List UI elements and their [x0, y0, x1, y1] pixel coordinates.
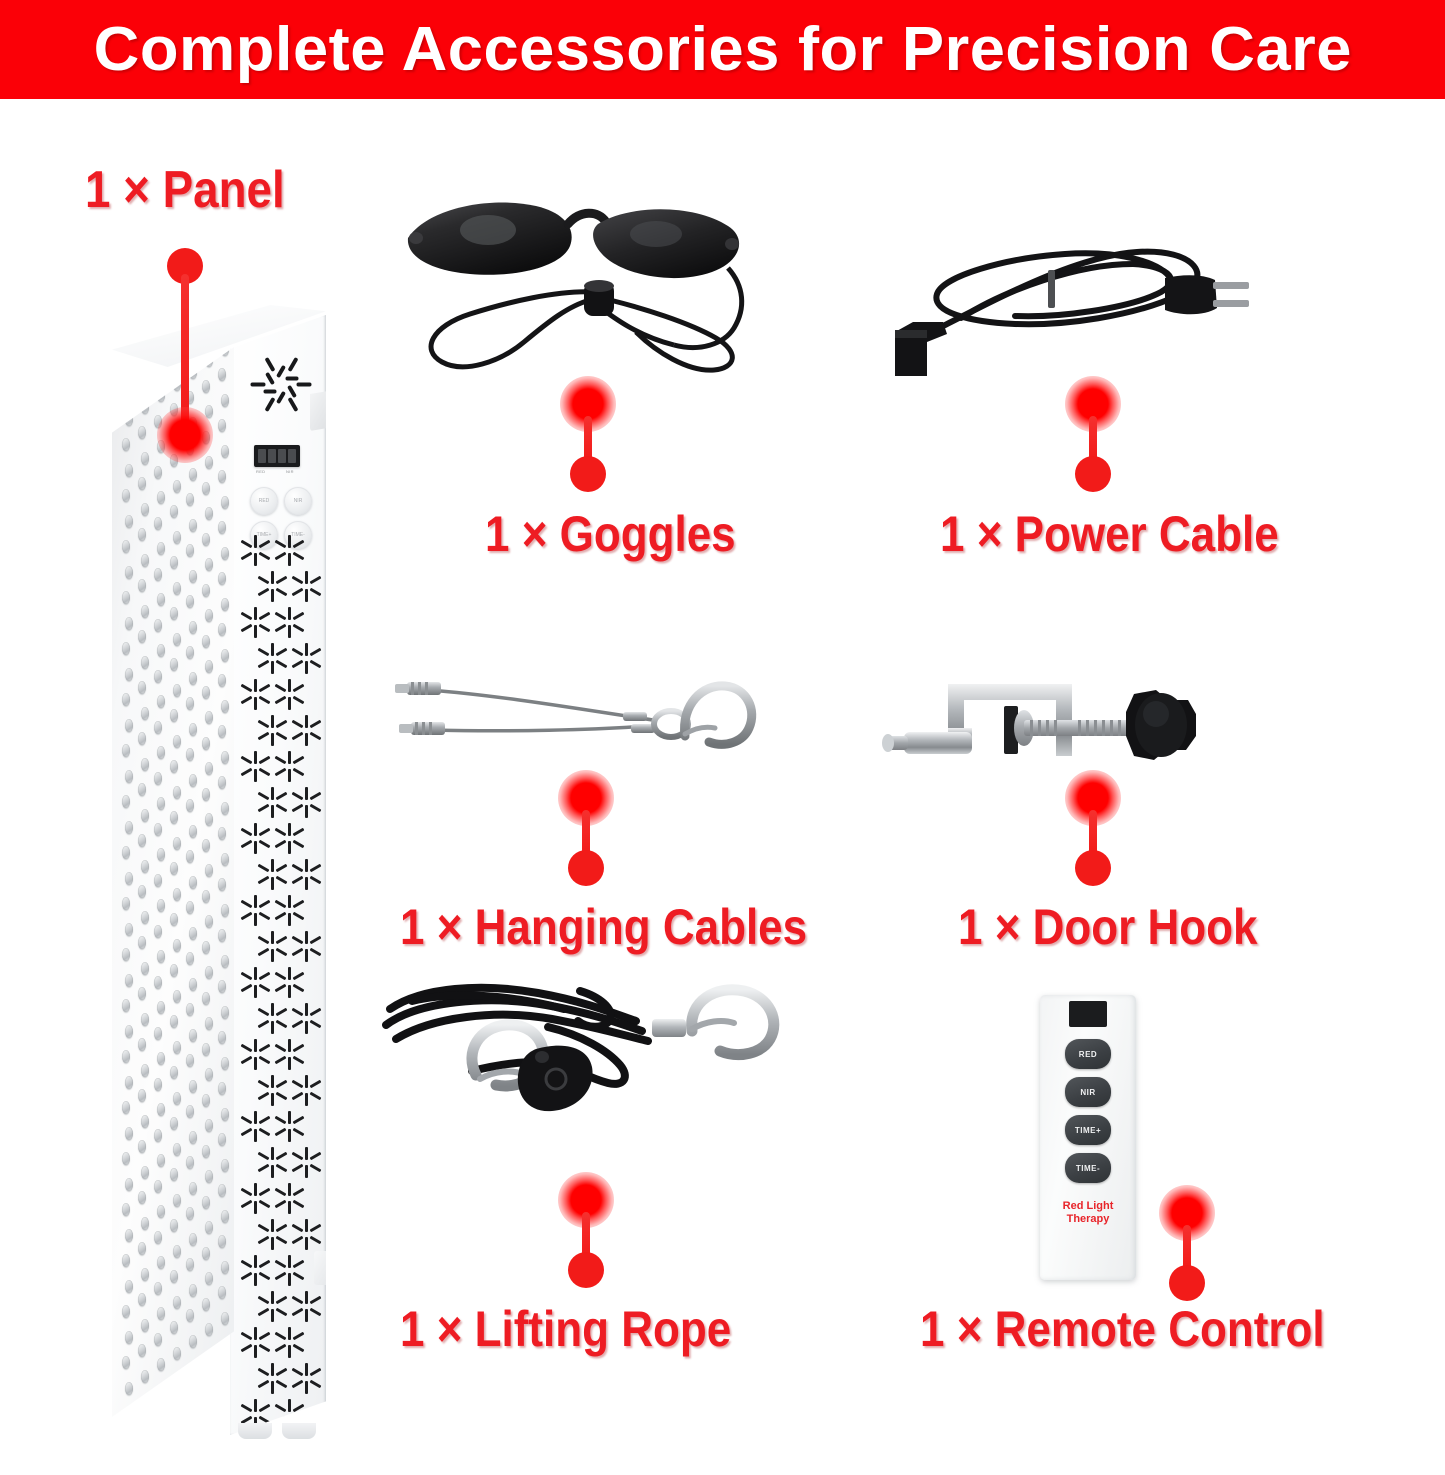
led: [170, 1117, 178, 1130]
panel-button-red[interactable]: RED: [250, 487, 278, 515]
vent-slot: [305, 787, 308, 800]
led: [218, 980, 226, 993]
vent-slot: [276, 1368, 288, 1377]
vent-slot: [259, 1188, 271, 1197]
vent-slot: [292, 720, 304, 729]
led: [170, 964, 178, 977]
vent-slot: [305, 1219, 308, 1232]
vent-slot: [288, 823, 291, 836]
led: [186, 799, 194, 812]
vent-slot: [271, 1075, 274, 1088]
led: [157, 1001, 165, 1014]
vent-slot: [254, 967, 257, 980]
vent-slot: [254, 1327, 257, 1340]
vent-slot: [276, 936, 288, 945]
led: [221, 1108, 229, 1121]
panel-led-face: [112, 347, 234, 1417]
led: [205, 711, 213, 724]
led: [173, 582, 181, 595]
led: [170, 1015, 178, 1028]
vent-slot: [293, 984, 305, 993]
marker-dot: [1075, 456, 1111, 492]
label-panel: 1 × Panel: [85, 160, 285, 220]
led: [186, 544, 194, 557]
led: [154, 1180, 162, 1193]
vent-slot: [288, 535, 291, 548]
vent-slot: [276, 648, 288, 657]
vent-slot: [305, 715, 308, 728]
marker-dot: [1075, 850, 1111, 886]
led: [173, 1347, 181, 1360]
vent-slot: [254, 895, 257, 908]
marker-hanging-cables: [556, 770, 616, 888]
led: [138, 681, 146, 694]
vent-slot: [305, 1381, 308, 1394]
led: [202, 737, 210, 750]
vent-slot: [259, 900, 271, 909]
remote-button-red[interactable]: RED: [1065, 1039, 1111, 1069]
vent-slot: [275, 1344, 287, 1353]
vent-slot: [276, 1380, 288, 1389]
led: [218, 929, 226, 942]
led: [170, 505, 178, 518]
led: [186, 850, 194, 863]
vent-slot: [293, 552, 305, 561]
vent-slot: [271, 1381, 274, 1394]
led: [170, 913, 178, 926]
led: [122, 846, 130, 859]
vent-slot: [271, 1147, 274, 1160]
led: [141, 656, 149, 669]
led: [221, 496, 229, 509]
led: [205, 915, 213, 928]
led: [138, 426, 146, 439]
vent-slot: [276, 1092, 288, 1101]
led: [186, 697, 194, 710]
vent-slot: [310, 1020, 322, 1029]
led: [141, 1319, 149, 1332]
panel-button-nir[interactable]: NIR: [284, 487, 312, 515]
led: [173, 939, 181, 952]
vent-slot: [292, 648, 304, 657]
led: [170, 709, 178, 722]
vent-slot: [288, 1129, 291, 1142]
led: [125, 1178, 133, 1191]
vent-slot: [292, 1164, 304, 1173]
vent-slot: [305, 1147, 308, 1160]
led: [221, 751, 229, 764]
vent-slot: [241, 1344, 253, 1353]
vent-slot: [310, 1008, 322, 1017]
vent-slot: [293, 684, 305, 693]
vent-slot: [259, 540, 271, 549]
vent-slot: [271, 1021, 274, 1034]
vent-slot: [305, 1453, 308, 1466]
led: [205, 1272, 213, 1285]
led: [170, 1321, 178, 1334]
led: [189, 519, 197, 532]
led: [173, 1245, 181, 1258]
vent-slot: [310, 804, 322, 813]
vent-slot: [292, 864, 304, 873]
vent-slot: [254, 841, 257, 854]
vent-slot: [259, 1344, 271, 1353]
vent-slot: [258, 876, 270, 885]
remote-button-time-minus[interactable]: TIME-: [1065, 1153, 1111, 1183]
led: [157, 950, 165, 963]
vent-slot: [258, 1308, 270, 1317]
vent-slot: [293, 768, 305, 777]
led: [189, 774, 197, 787]
vent-slot: [292, 936, 304, 945]
vent-slot: [310, 1164, 322, 1173]
led: [218, 1235, 226, 1248]
vent-slot: [293, 900, 305, 909]
vent-slot: [305, 1309, 308, 1322]
vent-slot: [276, 732, 288, 741]
led: [141, 1217, 149, 1230]
led: [154, 976, 162, 989]
vent-slot: [305, 805, 308, 818]
led: [141, 1370, 149, 1383]
vent-slot: [254, 913, 257, 926]
vent-slot: [258, 948, 270, 957]
vent-slot: [258, 720, 270, 729]
led: [125, 1331, 133, 1344]
led: [157, 695, 165, 708]
vent-slot: [241, 1116, 253, 1125]
led: [173, 480, 181, 493]
led: [154, 1333, 162, 1346]
vent-slot: [254, 985, 257, 998]
fan-slot: [287, 397, 298, 412]
door-hook-illustration: [872, 670, 1212, 800]
led: [173, 1092, 181, 1105]
led: [154, 670, 162, 683]
vent-slot: [275, 972, 287, 981]
led: [221, 1159, 229, 1172]
label-remote-control: 1 × Remote Control: [920, 1300, 1325, 1358]
vent-slot: [293, 756, 305, 765]
vent-slot: [254, 1129, 257, 1142]
vent-slot: [276, 1452, 288, 1461]
vent-slot: [258, 1092, 270, 1101]
lifting-rope-illustration: [352, 975, 792, 1150]
led: [170, 1168, 178, 1181]
led: [221, 598, 229, 611]
vent-slot: [258, 588, 270, 597]
led: [141, 401, 149, 414]
display-digit: [268, 449, 276, 463]
vent-slot: [292, 1380, 304, 1389]
vent-slot: [271, 1435, 274, 1448]
remote-ir-window: [1069, 1001, 1107, 1027]
led: [154, 925, 162, 938]
led: [157, 1358, 165, 1371]
vent-slot: [271, 931, 274, 944]
page-title: Complete Accessories for Precision Care: [93, 14, 1351, 85]
vent-slot: [241, 1200, 253, 1209]
vent-slot: [276, 1236, 288, 1245]
led: [221, 1057, 229, 1070]
led: [125, 1025, 133, 1038]
vent-slot: [310, 576, 322, 585]
fan-slot: [264, 357, 275, 372]
led: [170, 658, 178, 671]
vent-slot: [305, 877, 308, 890]
led: [138, 834, 146, 847]
led: [138, 987, 146, 1000]
led: [125, 413, 133, 426]
led: [125, 719, 133, 732]
vent-slot: [305, 1003, 308, 1016]
led: [186, 1105, 194, 1118]
led: [154, 1231, 162, 1244]
vent-slot: [293, 1404, 305, 1413]
vent-slot: [293, 1344, 305, 1353]
remote-button-time-plus[interactable]: TIME+: [1065, 1115, 1111, 1145]
led: [221, 700, 229, 713]
vent-slot: [288, 1255, 291, 1268]
vent-slot: [292, 1452, 304, 1461]
vent-slot: [241, 1332, 253, 1341]
vent-slot: [241, 624, 253, 633]
led: [122, 642, 130, 655]
led: [186, 901, 194, 914]
vent-slot: [259, 1128, 271, 1137]
vent-slot: [241, 900, 253, 909]
led: [202, 686, 210, 699]
vent-slot: [275, 1332, 287, 1341]
vent-slot: [271, 715, 274, 728]
vent-slot: [305, 571, 308, 584]
marker-panel: [155, 248, 215, 463]
vent-slot: [258, 1008, 270, 1017]
led: [189, 672, 197, 685]
vent-slot: [293, 1332, 305, 1341]
led: [122, 795, 130, 808]
vent-slot: [305, 949, 308, 962]
vent-slot: [258, 1152, 270, 1161]
led: [157, 542, 165, 555]
vent-slot: [276, 792, 288, 801]
led: [122, 540, 130, 553]
led: [154, 466, 162, 479]
led: [189, 621, 197, 634]
led: [141, 860, 149, 873]
vent-slot: [276, 864, 288, 873]
vent-slot: [259, 1332, 271, 1341]
led: [122, 693, 130, 706]
vent-slot: [259, 756, 271, 765]
led: [157, 1154, 165, 1167]
led: [125, 770, 133, 783]
vent-slot: [276, 660, 288, 669]
vent-slot: [292, 1224, 304, 1233]
vent-slot: [288, 1327, 291, 1340]
vent-slot: [305, 1363, 308, 1376]
vent-slot: [241, 696, 253, 705]
led: [218, 1184, 226, 1197]
vent-slot: [288, 841, 291, 854]
marker-remote-control: [1157, 1185, 1217, 1303]
led: [141, 1115, 149, 1128]
vent-slot: [310, 732, 322, 741]
led: [173, 990, 181, 1003]
vent-slot: [288, 1111, 291, 1124]
vent-slot: [275, 840, 287, 849]
led: [202, 1043, 210, 1056]
vent-slot: [276, 1224, 288, 1233]
vent-slot: [259, 1260, 271, 1269]
vent-slot: [254, 1399, 257, 1412]
vent-slot: [259, 768, 271, 777]
led: [186, 1258, 194, 1271]
led: [122, 489, 130, 502]
vent-slot: [288, 1201, 291, 1214]
led: [221, 445, 229, 458]
vent-slot: [288, 697, 291, 710]
panel-vent-grille: [248, 535, 312, 1475]
vent-slot: [292, 732, 304, 741]
vent-slot: [271, 733, 274, 746]
vent-slot: [292, 1440, 304, 1449]
vent-slot: [275, 1128, 287, 1137]
led: [141, 1268, 149, 1281]
led: [122, 1305, 130, 1318]
vent-slot: [292, 1020, 304, 1029]
vent-slot: [310, 1380, 322, 1389]
led: [189, 468, 197, 481]
led: [170, 760, 178, 773]
led: [122, 591, 130, 604]
fan-slot: [287, 357, 298, 372]
vent-slot: [305, 859, 308, 872]
display-label-nir: NIR: [286, 469, 294, 474]
vent-slot: [276, 804, 288, 813]
vent-slot: [271, 571, 274, 584]
vent-slot: [271, 859, 274, 872]
led: [125, 668, 133, 681]
vent-slot: [275, 900, 287, 909]
vent-slot: [292, 1368, 304, 1377]
vent-slot: [275, 1056, 287, 1065]
led: [154, 1129, 162, 1142]
led: [125, 566, 133, 579]
led: [221, 1261, 229, 1274]
vent-slot: [275, 552, 287, 561]
vent-slot: [288, 1183, 291, 1196]
led: [186, 493, 194, 506]
vent-slot: [276, 1296, 288, 1305]
led: [138, 375, 146, 388]
product-remote-control: RED NIR TIME+ TIME- Red Light Therapy: [1040, 995, 1136, 1280]
product-door-hook: [872, 670, 1212, 800]
led: [154, 823, 162, 836]
vent-slot: [259, 696, 271, 705]
vent-slot: [288, 1057, 291, 1070]
fan-slot: [287, 384, 297, 397]
vent-slot: [241, 984, 253, 993]
led: [221, 904, 229, 917]
vent-slot: [310, 948, 322, 957]
vent-slot: [305, 1165, 308, 1178]
led: [122, 1254, 130, 1267]
marker-dot: [1169, 1265, 1205, 1301]
marker-dot: [568, 1252, 604, 1288]
fan-slot: [265, 371, 275, 384]
led: [189, 1182, 197, 1195]
led: [218, 419, 226, 432]
led: [125, 1382, 133, 1395]
marker-goggles: [558, 376, 618, 494]
vent-slot: [254, 1039, 257, 1052]
vent-slot: [259, 624, 271, 633]
led: [205, 864, 213, 877]
led: [205, 1017, 213, 1030]
vent-slot: [288, 769, 291, 782]
led: [125, 821, 133, 834]
vent-slot: [276, 876, 288, 885]
vent-slot: [310, 1368, 322, 1377]
led: [205, 1323, 213, 1336]
panel-mount-bracket: [310, 389, 340, 431]
vent-slot: [293, 696, 305, 705]
vent-slot: [292, 876, 304, 885]
led: [205, 558, 213, 571]
vent-slot: [288, 1399, 291, 1412]
led-array: [112, 347, 234, 1417]
led: [221, 955, 229, 968]
led: [157, 746, 165, 759]
panel-display: [254, 445, 300, 467]
vent-slot: [288, 751, 291, 764]
vent-slot: [305, 1291, 308, 1304]
led: [205, 660, 213, 673]
vent-slot: [271, 643, 274, 656]
vent-slot: [259, 1272, 271, 1281]
vent-slot: [241, 972, 253, 981]
led: [202, 1094, 210, 1107]
remote-brand-text: Red Light Therapy: [1040, 1200, 1136, 1226]
fan-slot: [276, 365, 286, 378]
vent-slot: [259, 972, 271, 981]
vent-slot: [271, 1363, 274, 1376]
led: [157, 797, 165, 810]
led: [221, 547, 229, 560]
vent-slot: [241, 828, 253, 837]
fan-slot: [263, 389, 276, 393]
led: [122, 1101, 130, 1114]
led: [154, 517, 162, 530]
remote-button-nir[interactable]: NIR: [1065, 1077, 1111, 1107]
led: [138, 1191, 146, 1204]
led: [189, 723, 197, 736]
vent-slot: [259, 684, 271, 693]
vent-slot: [276, 1308, 288, 1317]
vent-slot: [292, 1152, 304, 1161]
vent-slot: [271, 1453, 274, 1466]
led: [189, 570, 197, 583]
remote-brand-line2: Therapy: [1040, 1213, 1136, 1226]
vent-slot: [292, 804, 304, 813]
led: [205, 966, 213, 979]
led: [125, 617, 133, 630]
vent-slot: [275, 540, 287, 549]
led: [186, 1054, 194, 1067]
led: [154, 772, 162, 785]
vent-slot: [275, 1272, 287, 1281]
